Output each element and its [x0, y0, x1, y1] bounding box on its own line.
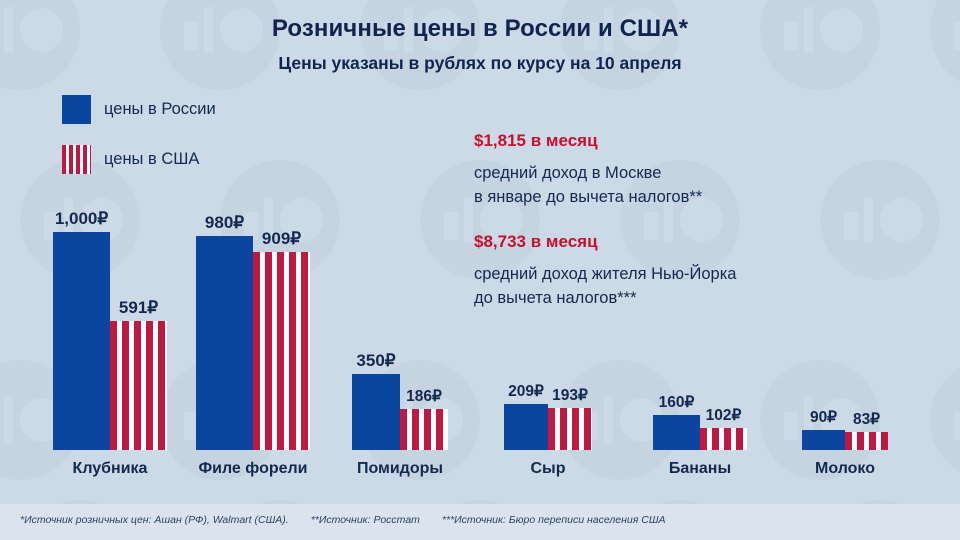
category-label: Бананы	[653, 460, 747, 478]
page-subtitle: Цены указаны в рублях по курсу на 10 апр…	[0, 52, 960, 74]
category-label: Помидоры	[352, 460, 448, 478]
bar-value-label: 909₽	[262, 229, 301, 252]
category-label: Клубника	[53, 460, 167, 478]
income-block-moscow: $1,815 в месяц средний доход в Москве в …	[474, 130, 904, 209]
bar-russia: 90₽	[802, 430, 845, 450]
category-label: Филе форели	[196, 460, 310, 478]
legend-item-russia: цены в России	[62, 94, 216, 124]
bar-usa: 83₽	[845, 432, 888, 450]
bar-value-label: 102₽	[706, 406, 742, 428]
income-description-line: до вычета налогов***	[474, 286, 904, 310]
bar-usa: 193₽	[548, 408, 592, 450]
bar-value-label: 90₽	[810, 408, 837, 430]
bar-value-label: 591₽	[119, 298, 158, 321]
bar-value-label: 193₽	[552, 386, 588, 408]
bar-russia: 350₽	[352, 374, 400, 450]
bar-group: 980₽909₽Филе форели	[196, 0, 310, 540]
bar-value-label: 209₽	[508, 382, 544, 404]
bar-russia: 1,000₽	[53, 232, 110, 450]
income-amount: $1,815 в месяц	[474, 130, 904, 152]
income-callouts: $1,815 в месяц средний доход в Москве в …	[474, 130, 904, 332]
bar-group: 1,000₽591₽Клубника	[53, 0, 167, 540]
bar-usa: 102₽	[700, 428, 747, 450]
bar-value-label: 1,000₽	[55, 209, 108, 232]
income-amount: $8,733 в месяц	[474, 231, 904, 253]
chart-legend: цены в России цены в США	[62, 94, 216, 194]
bar-value-label: 350₽	[356, 351, 395, 374]
bar-usa: 591₽	[110, 321, 167, 450]
bar-russia: 209₽	[504, 404, 548, 450]
legend-item-label: цены в России	[104, 100, 216, 119]
legend-item-label: цены в США	[104, 150, 199, 169]
footnote: ***Источник: Бюро переписи населения США	[442, 514, 666, 526]
income-block-newyork: $8,733 в месяц средний доход жителя Нью-…	[474, 231, 904, 310]
bar-usa: 186₽	[400, 409, 448, 450]
striped-flag-swatch-icon	[62, 145, 91, 174]
category-label: Сыр	[504, 460, 592, 478]
income-description-line: средний доход жителя Нью-Йорка	[474, 262, 904, 286]
header: Розничные цены в России и США* Цены указ…	[0, 14, 960, 74]
footnotes: *Источник розничных цен: Ашан (РФ), Walm…	[20, 514, 688, 526]
income-description-line: в январе до вычета налогов**	[474, 185, 904, 209]
legend-item-usa: цены в США	[62, 144, 216, 174]
bar-russia: 980₽	[196, 236, 253, 450]
income-description-line: средний доход в Москве	[474, 161, 904, 185]
bar-value-label: 980₽	[205, 213, 244, 236]
footnote: *Источник розничных цен: Ашан (РФ), Walm…	[20, 514, 289, 526]
footnote: **Источник: Росстат	[311, 514, 420, 526]
bar-group: 350₽186₽Помидоры	[352, 0, 448, 540]
page-title: Розничные цены в России и США*	[0, 14, 960, 44]
bar-value-label: 186₽	[406, 387, 442, 409]
bar-value-label: 83₽	[853, 410, 880, 432]
bar-usa: 909₽	[253, 252, 310, 450]
blue-square-swatch-icon	[62, 95, 91, 124]
bar-value-label: 160₽	[659, 393, 695, 415]
bar-russia: 160₽	[653, 415, 700, 450]
footer: *Источник розничных цен: Ашан (РФ), Walm…	[0, 504, 960, 540]
category-label: Молоко	[802, 460, 888, 478]
